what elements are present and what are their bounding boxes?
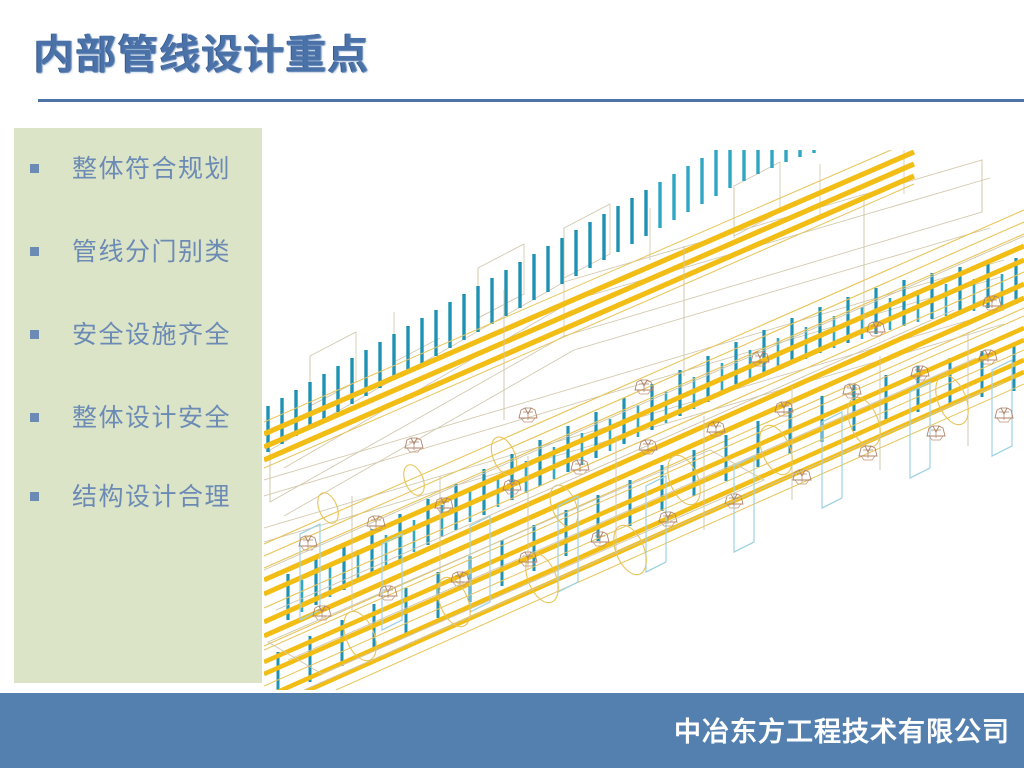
square-bullet-icon bbox=[30, 164, 39, 173]
list-item[interactable]: 安全设施齐全 bbox=[22, 314, 262, 354]
square-bullet-icon bbox=[30, 413, 39, 422]
list-item-label: 管线分门别类 bbox=[72, 239, 231, 264]
square-bullet-icon bbox=[30, 247, 39, 256]
list-item-label: 整体设计安全 bbox=[72, 405, 231, 430]
title-divider bbox=[38, 99, 1024, 102]
bullet-panel: 整体符合规划 管线分门别类 安全设施齐全 整体设计安全 结构设计合理 bbox=[14, 128, 262, 683]
footer-bar: 中冶东方工程技术有限公司 bbox=[0, 690, 1024, 768]
list-item-label: 结构设计合理 bbox=[72, 484, 231, 509]
list-item[interactable]: 管线分门别类 bbox=[22, 231, 262, 271]
pipe-rack-drawing bbox=[264, 150, 1024, 690]
page-title: 内部管线设计重点 bbox=[34, 22, 370, 80]
list-item[interactable]: 整体设计安全 bbox=[22, 397, 262, 437]
square-bullet-icon bbox=[30, 492, 39, 501]
bullet-list: 整体符合规划 管线分门别类 安全设施齐全 整体设计安全 结构设计合理 bbox=[14, 128, 262, 683]
list-item-label: 整体符合规划 bbox=[72, 156, 231, 181]
list-item-label: 安全设施齐全 bbox=[72, 322, 231, 347]
company-name: 中冶东方工程技术有限公司 bbox=[674, 710, 1010, 749]
pipe-rack-svg bbox=[264, 150, 1024, 690]
list-item[interactable]: 整体符合规划 bbox=[22, 148, 262, 188]
list-item[interactable]: 结构设计合理 bbox=[22, 476, 262, 516]
square-bullet-icon bbox=[30, 330, 39, 339]
slide-canvas: 内部管线设计重点 整体符合规划 管线分门别类 安全设施齐全 整体设计安全 bbox=[0, 0, 1024, 768]
